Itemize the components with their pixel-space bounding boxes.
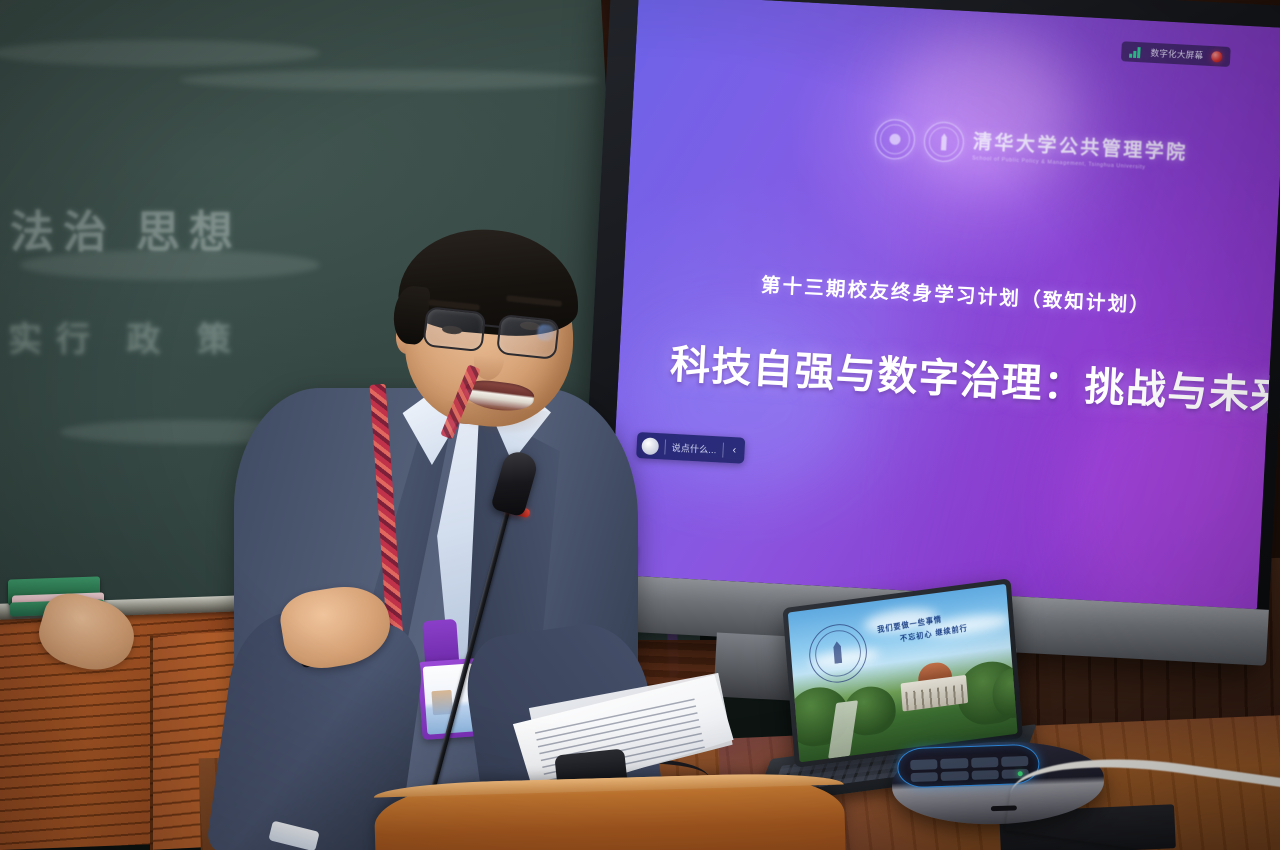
display-screen[interactable]: 数字化大屏幕 清华大学公共管理学院 School of Public Polic…	[608, 0, 1280, 609]
display-bezel: 数字化大屏幕 清华大学公共管理学院 School of Public Polic…	[577, 0, 1280, 666]
laptop[interactable]: 我们要做一些事情 不忘初心 继续前行	[782, 578, 1023, 768]
green-status-led	[1018, 771, 1023, 776]
chalkboard-line-1: 法治 思想	[10, 196, 242, 260]
tsinghua-seal-icon	[874, 118, 916, 160]
laptop-lid: 我们要做一些事情 不忘初心 继续前行	[782, 578, 1023, 768]
wooden-podium	[374, 771, 847, 850]
chalkboard-line-2: 实行 政 策	[8, 312, 245, 361]
university-seal-icon	[807, 621, 869, 686]
status-badge-text: 数字化大屏幕	[1150, 47, 1203, 62]
sppm-seal-icon	[923, 121, 965, 163]
chevron-left-icon[interactable]: ‹	[729, 444, 739, 455]
glasses-lens-right	[496, 314, 560, 360]
laptop-screen[interactable]: 我们要做一些事情 不忘初心 继续前行	[788, 584, 1018, 762]
record-dot-icon	[1211, 51, 1223, 63]
speakerphone-keypad[interactable]	[910, 756, 1029, 782]
lecture-hall-scene: 法治 思想 实行 政 策	[0, 0, 1280, 850]
id-badge-photo	[431, 690, 453, 715]
chat-input-placeholder[interactable]: 说点什么...	[671, 440, 717, 455]
chat-input-bar[interactable]: 说点什么... ‹	[636, 432, 745, 464]
signal-bars-icon	[1129, 46, 1143, 58]
